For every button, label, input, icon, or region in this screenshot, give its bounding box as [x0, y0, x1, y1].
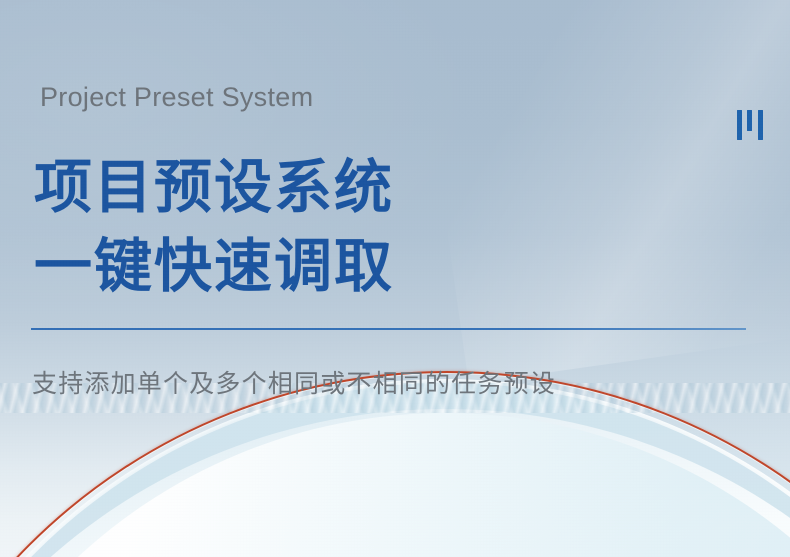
- page-title: 项目预设系统 一键快速调取: [34, 148, 394, 306]
- divider: [31, 328, 746, 330]
- page-title-line-2: 一键快速调取: [34, 227, 394, 306]
- banner-content: Project Preset System 项目预设系统 一键快速调取 支持添加…: [0, 0, 790, 557]
- page-title-line-1: 项目预设系统: [34, 148, 394, 227]
- three-vertical-bars-logo-icon: [737, 110, 763, 140]
- logo-bar-1: [737, 110, 742, 140]
- logo-bar-2: [747, 110, 752, 131]
- project-preset-system-banner: Project Preset System 项目预设系统 一键快速调取 支持添加…: [0, 0, 790, 557]
- tagline-text: 支持添加单个及多个相同或不相同的任务预设: [32, 364, 556, 400]
- logo-bar-3: [758, 110, 763, 140]
- eyebrow-text: Project Preset System: [40, 82, 313, 113]
